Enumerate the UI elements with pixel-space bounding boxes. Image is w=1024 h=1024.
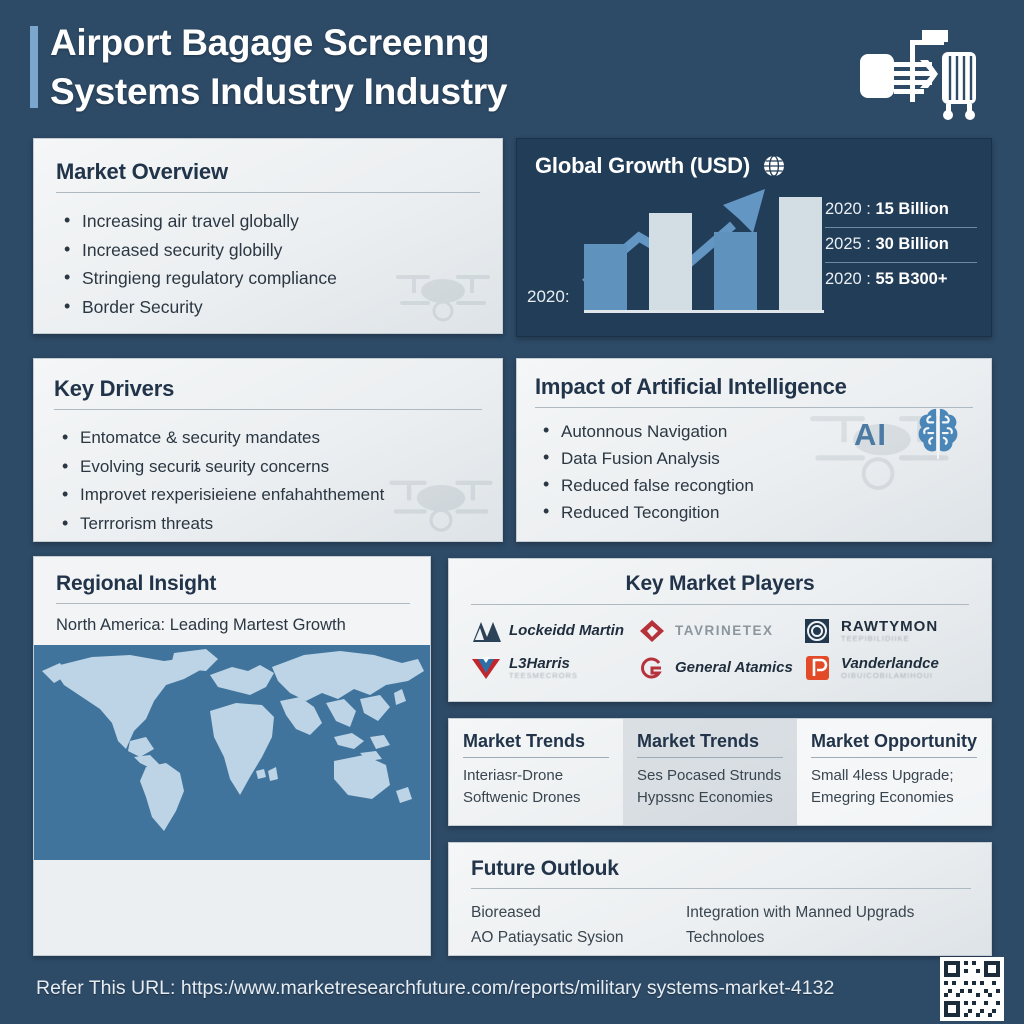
player-logo-text: L3Harris TEESMECRORS xyxy=(509,656,578,680)
chart-baseline xyxy=(584,310,824,313)
bar-4 xyxy=(779,197,822,310)
ai-impact-title: Impact of Artificial Intelligence xyxy=(535,374,973,400)
stat-year: 2025 : xyxy=(825,235,871,253)
player-subtext: TEESMECRORS xyxy=(509,672,578,680)
player-subtext: OIBUICOBILAMIHOUI xyxy=(841,672,939,680)
trend-line: Small 4less Upgrade; xyxy=(811,765,977,787)
list-item: Stringieng regulatory compliance xyxy=(56,264,480,293)
logo-grid: Lockeidd Martin TAVRINETEX xyxy=(471,618,969,681)
player-logo-text: Vanderlandce OIBUICOBILAMIHOUI xyxy=(841,656,939,680)
player-logo-lockheed: Lockeidd Martin xyxy=(471,618,637,644)
stat-year: 2020 : xyxy=(825,270,871,288)
stat-row: 2025 : 30 Billion xyxy=(825,227,977,262)
bar-1 xyxy=(584,244,627,310)
stat-value: 55 B300+ xyxy=(875,270,947,288)
world-map-icon xyxy=(34,645,430,863)
trend-line: Interiasr-Drone xyxy=(463,765,609,787)
key-market-players-title: Key Market Players xyxy=(471,572,969,596)
world-map xyxy=(34,645,430,955)
trend-line: Ses Pocased Strunds xyxy=(637,765,783,787)
diamond-icon xyxy=(637,618,667,644)
global-growth-header: Global Growth (USD) xyxy=(535,153,975,179)
player-logo-text: General Atamics xyxy=(675,660,793,676)
future-outlook-title: Future Outlouk xyxy=(471,857,971,881)
list-item: Improvet rexperisieiene enfahahthement xyxy=(54,481,482,510)
divider xyxy=(463,757,609,758)
regional-insight-card: Regional Insight North America: Leading … xyxy=(33,556,431,956)
player-logo-general-atomics: General Atamics xyxy=(637,655,803,681)
rounded-p-square-icon xyxy=(803,655,833,681)
future-outlook-card: Future Outlouk Bioreased AO Patiaysatic … xyxy=(448,842,992,956)
player-name: General Atamics xyxy=(675,660,793,676)
bar-3 xyxy=(714,232,757,310)
player-logo-l3harris: L3Harris TEESMECRORS xyxy=(471,655,637,681)
player-logo-text: Lockeidd Martin xyxy=(509,623,624,639)
regional-insight-header: Regional Insight North America: Leading … xyxy=(34,557,430,645)
chart-x-label: 2020: xyxy=(527,287,570,307)
trend-column-3: Market Opportunity Small 4less Upgrade; … xyxy=(797,719,991,825)
outlook-column-1: Bioreased AO Patiaysatic Sysion xyxy=(471,900,666,950)
global-growth-card: Global Growth (USD) xyxy=(516,138,992,337)
player-logo-text: RAWTYMON TEEPIBILIDIIKE xyxy=(841,619,938,643)
trend-line: Softwenic Drones xyxy=(463,787,609,809)
growth-stats-list: 2020 : 15 Billion 2025 : 30 Billion 2020… xyxy=(825,193,977,297)
divider xyxy=(811,757,977,758)
stat-value: 30 Billion xyxy=(875,235,948,253)
list-item: Reduced Tecongition xyxy=(535,499,973,526)
list-item: Entomatce & security mandates xyxy=(54,424,482,453)
outlook-line: Technoloes xyxy=(686,925,914,950)
player-name: Lockeidd Martin xyxy=(509,623,624,639)
ai-impact-card: Impact of Artificial Intelligence Autonn… xyxy=(516,358,992,542)
outlook-line: Bioreased xyxy=(471,900,666,925)
outlook-line: AO Patiaysatic Sysion xyxy=(471,925,666,950)
player-name: Vanderlandce xyxy=(841,656,939,672)
growth-bar-chart: 2020: xyxy=(527,187,827,327)
key-market-players-card: Key Market Players Lockeidd Martin xyxy=(448,558,992,702)
g-letter-icon xyxy=(637,655,667,681)
divider xyxy=(54,409,482,410)
page-title-line1: Airport Bagage Screenng xyxy=(50,22,489,63)
footer-url[interactable]: Refer This URL: https:/www.marketresearc… xyxy=(36,977,834,1000)
key-drivers-list: Entomatce & security mandates Evolving s… xyxy=(54,424,482,538)
divider xyxy=(471,888,971,889)
trend-column-2: Market Trends Ses Pocased Strunds Hypssn… xyxy=(623,719,797,825)
player-logo-raytheon: RAWTYMON TEEPIBILIDIIKE xyxy=(803,618,969,644)
qr-code-icon xyxy=(940,957,1004,1021)
list-item: Reduced false recongtion xyxy=(535,472,973,499)
page-title: Airport Bagage Screenng Systems Industry… xyxy=(50,18,750,116)
player-logo-vanderlande: Vanderlandce OIBUICOBILAMIHOUI xyxy=(803,655,969,681)
list-item: Increasing air travel globally xyxy=(56,207,480,236)
stat-row: 2020 : 15 Billion xyxy=(825,193,977,227)
key-drivers-title: Key Drivers xyxy=(54,376,482,402)
baggage-scanner-icon xyxy=(858,26,980,122)
header: Airport Bagage Screenng Systems Industry… xyxy=(0,0,1024,128)
trend-column-1: Market Trends Interiasr-Drone Softwenic … xyxy=(449,719,623,825)
globe-icon xyxy=(762,154,786,178)
list-item: Increased security globilly xyxy=(56,236,480,265)
market-overview-card: Market Overview Increasing air travel gl… xyxy=(33,138,503,334)
stat-row: 2020 : 55 B300+ xyxy=(825,262,977,297)
lockheed-mountain-icon xyxy=(471,618,501,644)
outlook-column-2: Integration with Manned Upgrads Technolo… xyxy=(686,900,914,950)
stat-year: 2020 : xyxy=(825,200,871,218)
list-item: Terrrorism threats xyxy=(54,510,482,539)
trend-title: Market Trends xyxy=(463,731,609,752)
global-growth-title: Global Growth (USD) xyxy=(535,153,750,179)
infographic-page: Airport Bagage Screenng Systems Industry… xyxy=(0,0,1024,1024)
regional-insight-note: North America: Leading Martest Growth xyxy=(56,616,410,635)
w-chevron-icon xyxy=(471,655,501,681)
ai-badge-text: AI xyxy=(854,417,887,453)
player-subtext: TEEPIBILIDIIKE xyxy=(841,635,938,643)
key-drivers-card: Key Drivers Entomatce & security mandate… xyxy=(33,358,503,542)
market-overview-title: Market Overview xyxy=(56,159,480,185)
title-accent-bar xyxy=(30,26,38,108)
player-name: TAVRINETEX xyxy=(675,624,774,638)
future-outlook-columns: Bioreased AO Patiaysatic Sysion Integrat… xyxy=(471,900,971,950)
stat-value: 15 Billion xyxy=(875,200,948,218)
page-title-line2: Systems Industry Industry xyxy=(50,67,750,116)
divider xyxy=(637,757,783,758)
divider xyxy=(471,604,969,605)
list-item: Evolving securiȶ seurity concerns xyxy=(54,453,482,482)
brain-icon xyxy=(907,403,969,465)
spiral-square-icon xyxy=(803,618,833,644)
outlook-line: Integration with Manned Upgrads xyxy=(686,900,914,925)
divider xyxy=(56,192,480,193)
divider xyxy=(56,603,410,604)
market-overview-list: Increasing air travel globally Increased… xyxy=(56,207,480,321)
player-name: RAWTYMON xyxy=(841,619,938,635)
trends-row: Market Trends Interiasr-Drone Softwenic … xyxy=(448,718,992,826)
regional-insight-title: Regional Insight xyxy=(56,572,410,596)
player-logo-tavrinetex: TAVRINETEX xyxy=(637,618,803,644)
trend-title: Market Trends xyxy=(637,731,783,752)
bar-2 xyxy=(649,213,692,310)
list-item: Border Security xyxy=(56,293,480,322)
map-bottom-band xyxy=(34,860,430,955)
player-logo-text: TAVRINETEX xyxy=(675,624,774,638)
trend-line: Emegring Economies xyxy=(811,787,977,809)
trend-line: Hypssnc Economies xyxy=(637,787,783,809)
trend-title: Market Opportunity xyxy=(811,731,977,752)
player-name: L3Harris xyxy=(509,656,578,672)
